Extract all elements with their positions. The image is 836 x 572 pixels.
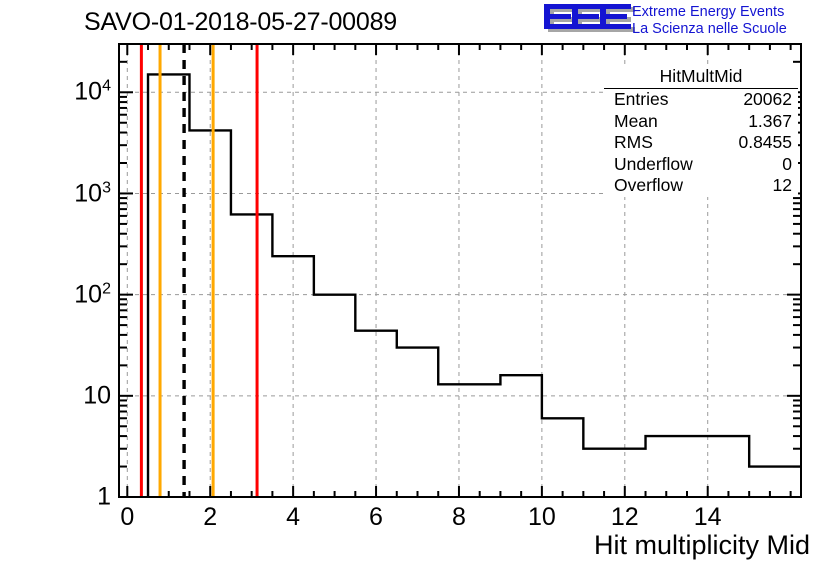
- x-tick-label: 6: [369, 503, 383, 532]
- stats-title: HitMultMid: [604, 66, 798, 89]
- root-canvas: SAVO-01-2018-05-27-00089: [0, 0, 836, 572]
- y-tick-label: 104: [74, 78, 111, 107]
- stats-row-value: 12: [773, 175, 792, 197]
- x-tick-label: 4: [286, 503, 300, 532]
- stats-row-label: Entries: [614, 89, 668, 111]
- x-tick-label: 12: [611, 503, 639, 532]
- x-axis-title: Hit multiplicity Mid: [594, 530, 810, 561]
- stats-row-label: Mean: [614, 111, 658, 133]
- marker-lines: [141, 44, 257, 497]
- stats-row-label: Underflow: [614, 154, 693, 176]
- stats-row-value: 20062: [743, 89, 792, 111]
- stats-row: Overflow12: [604, 175, 798, 197]
- stats-row-value: 1.367: [748, 111, 792, 133]
- stats-row: Underflow0: [604, 154, 798, 176]
- x-tick-label: 0: [120, 503, 134, 532]
- x-tick-label: 2: [203, 503, 217, 532]
- stats-row: RMS0.8455: [604, 132, 798, 154]
- stats-row-label: Overflow: [614, 175, 683, 197]
- stats-row: Entries20062: [604, 89, 798, 111]
- stats-box: HitMultMid Entries20062Mean1.367RMS0.845…: [604, 66, 798, 197]
- stats-row-value: 0: [782, 154, 792, 176]
- y-tick-label: 103: [74, 179, 111, 208]
- stats-row-label: RMS: [614, 132, 653, 154]
- y-tick-label: 10: [83, 381, 111, 410]
- stats-rows: Entries20062Mean1.367RMS0.8455Underflow0…: [604, 89, 798, 197]
- x-tick-label: 10: [528, 503, 556, 532]
- x-tick-label: 14: [694, 503, 722, 532]
- y-tick-label: 1: [97, 483, 111, 512]
- x-tick-label: 8: [452, 503, 466, 532]
- stats-row: Mean1.367: [604, 111, 798, 133]
- y-tick-label: 102: [74, 280, 111, 309]
- stats-row-value: 0.8455: [738, 132, 792, 154]
